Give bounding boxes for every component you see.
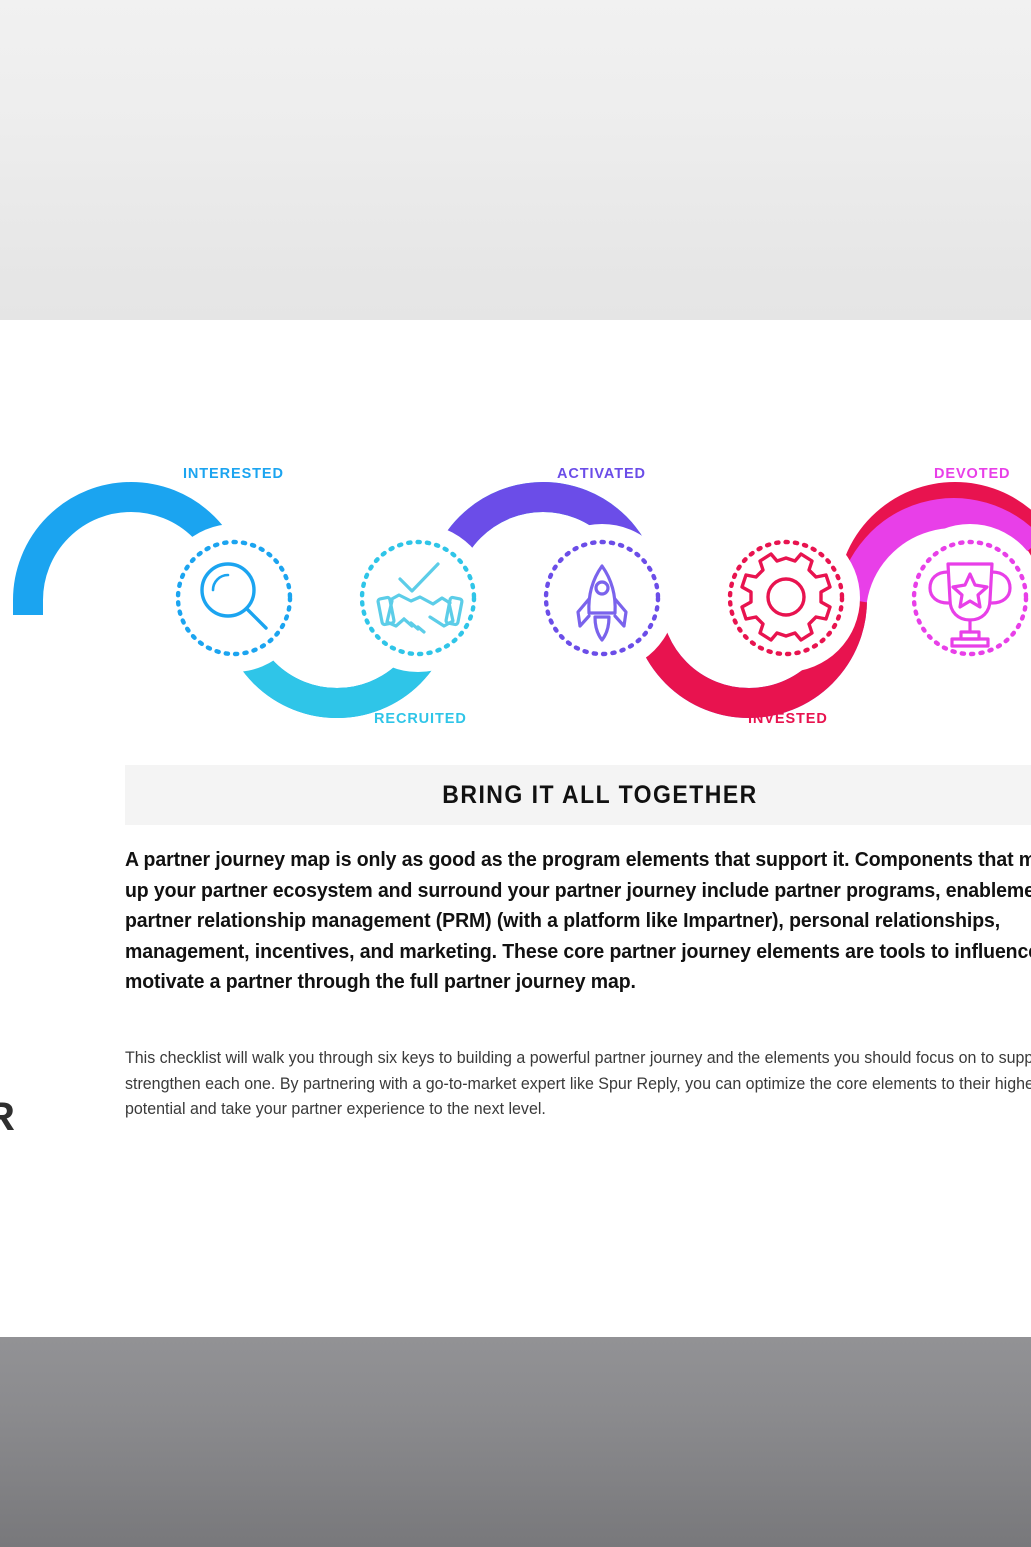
stage-label-devoted: DEVOTED: [934, 466, 1010, 482]
section-heading-bar: BRING IT ALL TOGETHER: [125, 765, 1031, 825]
stage-label-recruited: RECRUITED: [374, 711, 467, 727]
icon-disc-devoted: [896, 524, 1031, 672]
icon-disc-invested: [712, 524, 860, 672]
journey-wave-svg: [0, 440, 1031, 740]
icon-disc-activated: [528, 524, 676, 672]
page-root: INTERESTED RECRUITED ACTIVATED INVESTED …: [0, 0, 1031, 1547]
top-chrome-band: [0, 0, 1031, 320]
lead-paragraph: A partner journey map is only as good as…: [125, 845, 1031, 998]
clipped-margin-letter: R: [0, 1095, 15, 1140]
icon-disc-interested: [160, 524, 308, 672]
bottom-chrome-band: [0, 1337, 1031, 1547]
supporting-paragraph: This checklist will walk you through six…: [125, 1046, 1031, 1123]
stage-label-interested: INTERESTED: [183, 466, 284, 482]
stage-label-activated: ACTIVATED: [557, 466, 646, 482]
page-title: BRING IT ALL TOGETHER: [163, 781, 1031, 810]
partner-journey-graphic: [0, 440, 1031, 740]
stage-label-invested: INVESTED: [748, 711, 828, 727]
